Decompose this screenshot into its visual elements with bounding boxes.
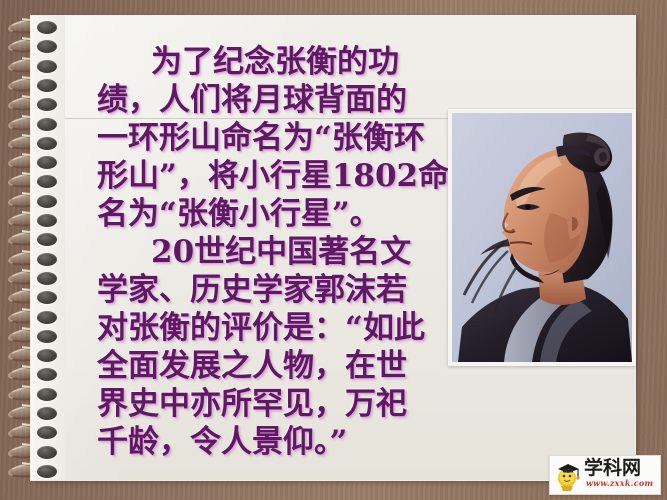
text-line: 学家、历史学家郭沫若 <box>97 271 437 309</box>
punch-hole <box>37 214 57 227</box>
punch-hole <box>37 60 57 73</box>
watermark-text: 学科网 www.zxxk.com <box>583 456 660 494</box>
punch-hole <box>37 311 57 324</box>
graduation-cap-mascot-icon <box>553 458 583 492</box>
punch-hole <box>37 465 57 478</box>
text-line: 形山”，将小行星1802命 <box>97 157 437 195</box>
punch-hole <box>37 137 57 150</box>
text-line: 全面发展之人物，在世 <box>97 347 437 385</box>
punch-hole <box>37 253 57 266</box>
punch-hole <box>37 175 57 188</box>
portrait-image <box>452 113 632 362</box>
punch-hole <box>37 388 57 401</box>
punch-hole <box>37 368 57 381</box>
punch-hole <box>37 349 57 362</box>
punch-hole <box>37 195 57 208</box>
punch-hole <box>37 330 57 343</box>
punch-hole <box>37 233 57 246</box>
punch-hole <box>37 98 57 111</box>
notebook-page: 为了纪念张衡的功绩，人们将月球背面的一环形山命名为“张衡环形山”，将小行星180… <box>31 16 635 480</box>
punch-hole <box>37 40 57 53</box>
punch-hole <box>37 426 57 439</box>
site-watermark: 学科网 www.zxxk.com <box>549 455 661 495</box>
watermark-url: www.zxxk.com <box>586 479 653 488</box>
text-line: 为了纪念张衡的功 <box>97 43 437 81</box>
punch-hole <box>37 407 57 420</box>
punch-hole <box>37 272 57 285</box>
slide-canvas: 为了纪念张衡的功绩，人们将月球背面的一环形山命名为“张衡环形山”，将小行星180… <box>0 0 667 500</box>
punch-hole-strip <box>31 16 65 480</box>
text-line: 20世纪中国著名文 <box>97 233 437 271</box>
punch-hole <box>37 79 57 92</box>
text-line: 千龄，令人景仰。” <box>97 423 437 461</box>
text-line: 对张衡的评价是：“如此 <box>97 309 437 347</box>
text-line: 界史中亦所罕见，万祀 <box>97 385 437 423</box>
portrait-frame <box>448 109 636 366</box>
punch-hole <box>37 291 57 304</box>
text-line: 一环形山命名为“张衡环 <box>97 119 437 157</box>
text-line: 绩，人们将月球背面的 <box>97 81 437 119</box>
punch-hole <box>37 118 57 131</box>
punch-hole <box>37 446 57 459</box>
watermark-site-name: 学科网 <box>584 458 641 478</box>
punch-hole <box>37 21 57 34</box>
punch-hole <box>37 156 57 169</box>
text-line: 名为“张衡小行星”。 <box>97 195 437 233</box>
body-text-block: 为了纪念张衡的功绩，人们将月球背面的一环形山命名为“张衡环形山”，将小行星180… <box>97 43 437 461</box>
